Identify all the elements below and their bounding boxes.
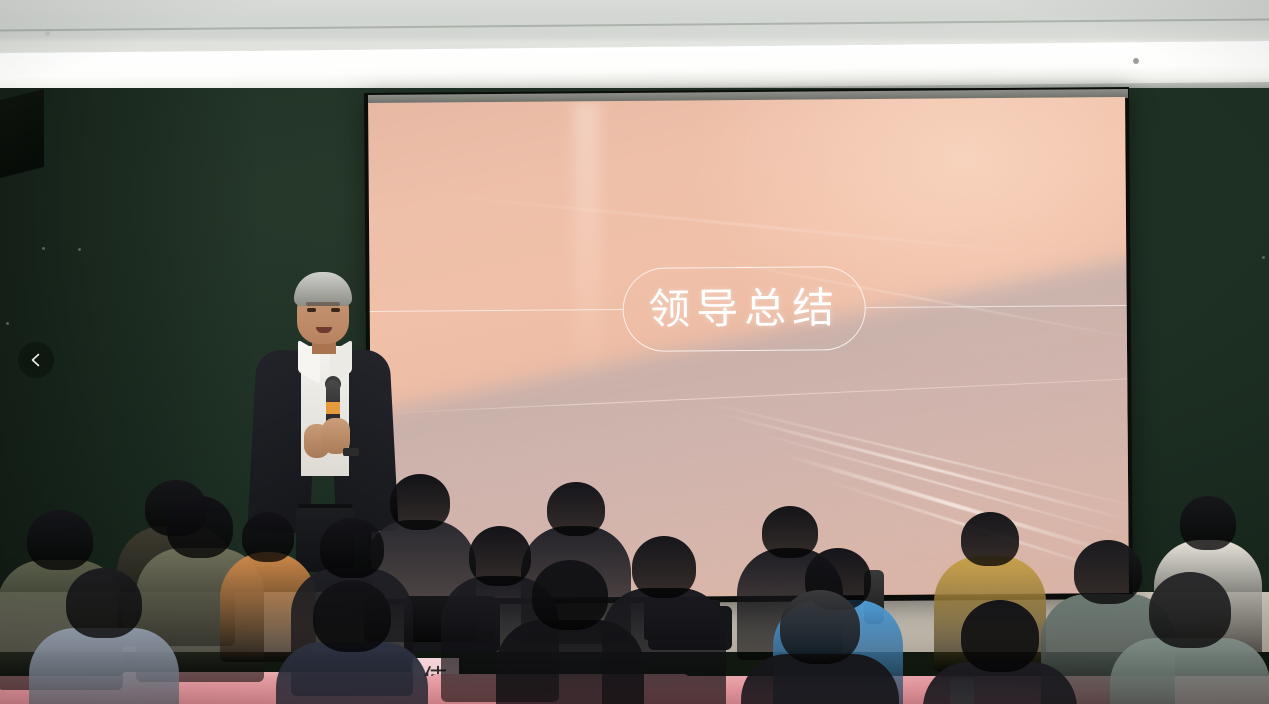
ceiling-screw xyxy=(45,31,50,36)
wall-speck xyxy=(6,322,9,325)
presenter-eye xyxy=(307,308,316,312)
previous-image-button[interactable] xyxy=(18,342,54,378)
audience xyxy=(0,440,1269,704)
audience-member xyxy=(29,568,179,704)
slide-title-text: 领导总结 xyxy=(648,287,840,331)
wall-speck xyxy=(1262,256,1265,259)
ceiling-seam xyxy=(0,18,1269,31)
presenter-hair xyxy=(294,272,352,306)
presenter-brow xyxy=(306,302,340,306)
audience-member xyxy=(496,560,644,704)
audience-member-head xyxy=(66,568,142,638)
chevron-left-icon xyxy=(28,352,44,368)
audience-member xyxy=(1110,572,1269,704)
audience-member-torso xyxy=(496,620,644,704)
audience-member-head xyxy=(320,518,384,578)
audience-member xyxy=(923,600,1077,704)
presenter-eye xyxy=(331,308,340,312)
audience-member xyxy=(741,590,899,704)
wall-speck xyxy=(42,247,45,250)
audience-member-head xyxy=(1180,496,1236,550)
slide-title-pill: 领导总结 xyxy=(622,266,866,352)
audience-member-head xyxy=(780,590,860,664)
audience-member-head xyxy=(532,560,608,630)
audience-member-head xyxy=(961,600,1039,672)
audience-member-torso xyxy=(29,628,179,704)
microphone-band xyxy=(326,402,340,414)
audience-member xyxy=(276,580,428,704)
wall-speck xyxy=(78,248,81,251)
audience-member-head xyxy=(1149,572,1231,648)
audience-member-head xyxy=(27,510,93,570)
ceiling-light-mount xyxy=(1133,58,1139,64)
audience-member-head xyxy=(242,512,294,562)
audience-member-head xyxy=(313,580,391,652)
photo-viewer: 领导总结 伟 xyxy=(0,0,1269,704)
slide-light-column xyxy=(573,101,601,401)
audience-member-head xyxy=(961,512,1019,566)
wall-mounted-object xyxy=(0,89,44,181)
